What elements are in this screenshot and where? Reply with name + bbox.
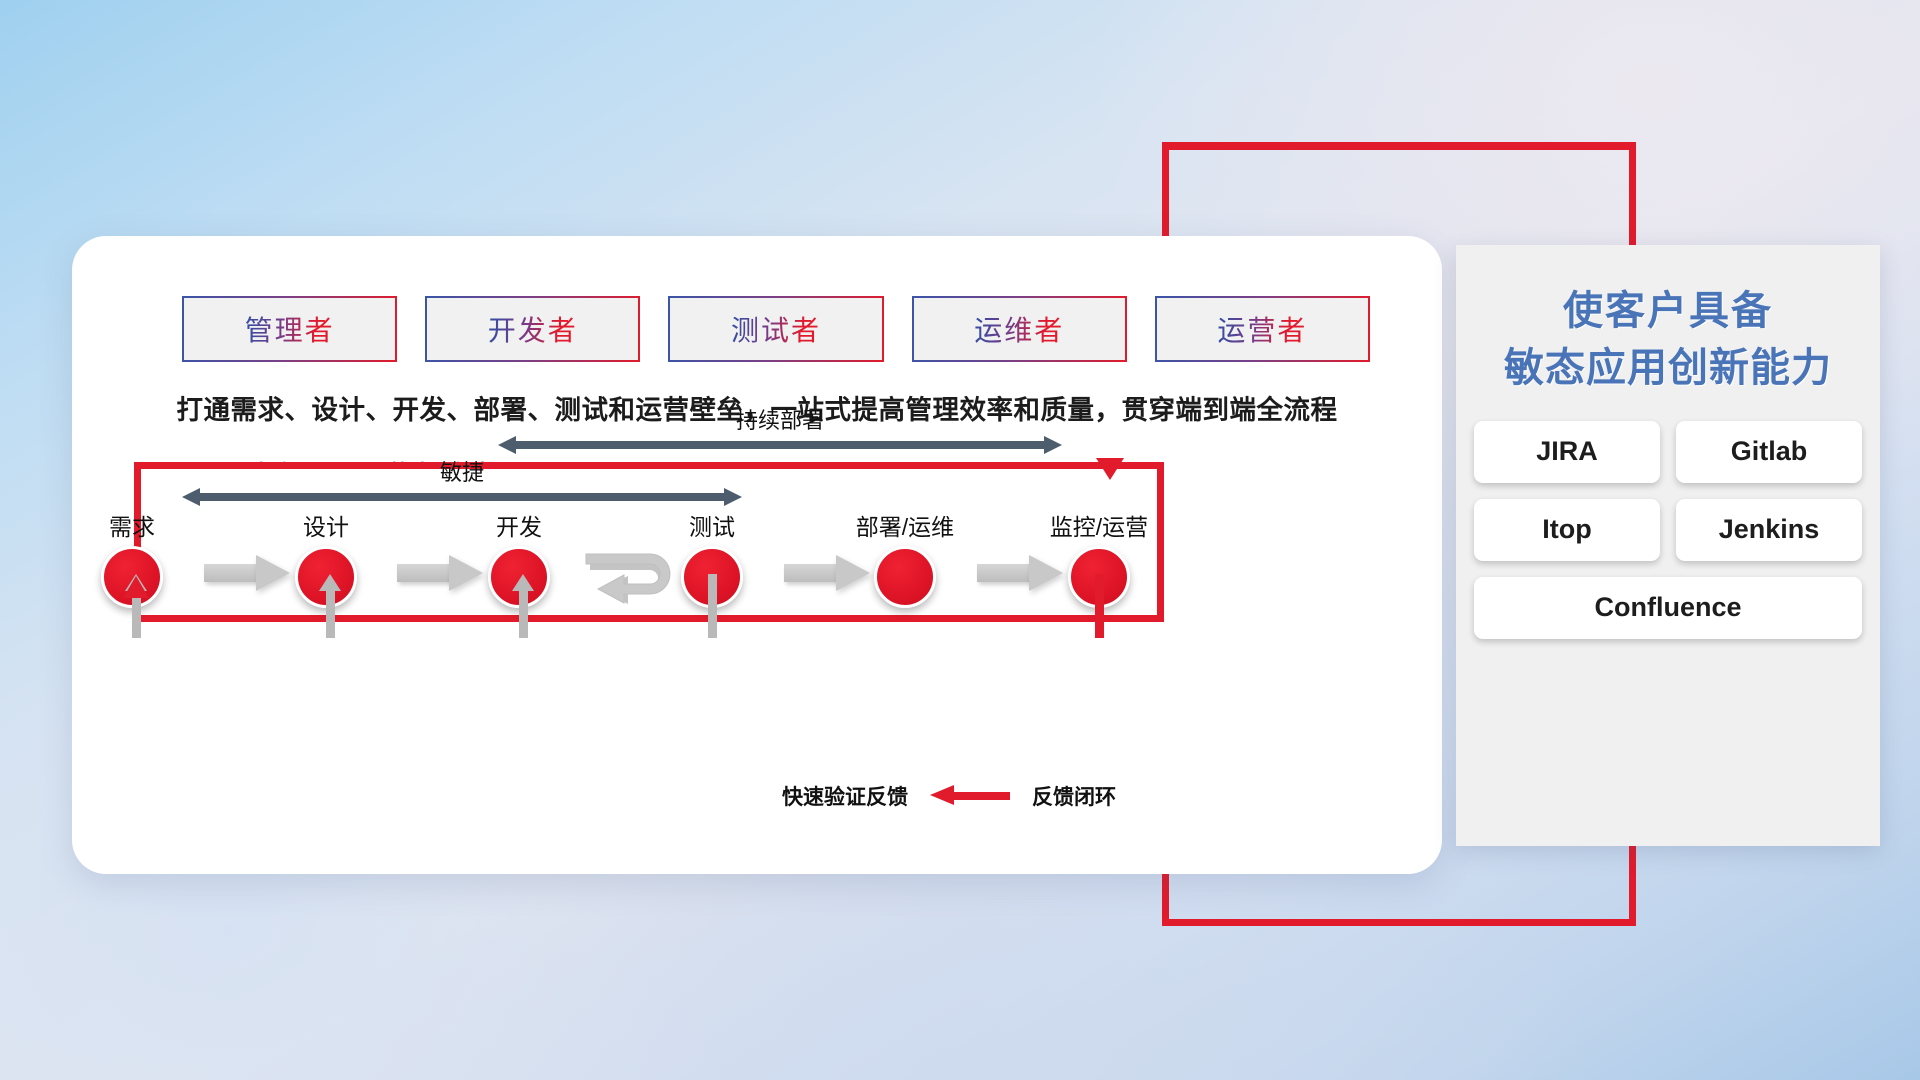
double-arrow-icon (182, 488, 742, 506)
pipeline-row: 需求 设计 开发 (72, 508, 1442, 628)
red-arrow-left-icon (930, 790, 1010, 802)
role-chip-label: 开发者 (488, 309, 578, 349)
main-content-card: 管理者 开发者 测试者 运维者 运营者 打通需求、设计、开发、部署、测试和运营壁… (72, 236, 1442, 874)
stage-label: 设计 (266, 508, 386, 542)
role-chip-row: 管理者 开发者 测试者 运维者 运营者 (182, 296, 1370, 362)
flow-arrow-icon (784, 556, 870, 590)
role-chip-label: 运维者 (974, 309, 1064, 349)
continuous-deploy-span: 持续部署 (498, 436, 1062, 454)
flow-arrow-icon (977, 556, 1063, 590)
tool-chip-grid: JIRA Gitlab Itop Jenkins Confluence (1474, 421, 1862, 639)
flow-arrow-icon (397, 556, 483, 590)
role-chip-tester[interactable]: 测试者 (668, 296, 883, 362)
value-proposition-title: 使客户具备 敏态应用创新能力 (1456, 283, 1880, 397)
loop-arrow-up-icon (123, 576, 149, 598)
tool-chip-confluence[interactable]: Confluence (1474, 577, 1862, 639)
value-proposition-line1: 使客户具备 (1456, 283, 1880, 340)
feedback-stem-monitoring (1095, 574, 1104, 638)
feedback-up-arrow-development (515, 574, 531, 638)
role-chip-ops[interactable]: 运维者 (912, 296, 1127, 362)
role-chip-operations[interactable]: 运营者 (1155, 296, 1370, 362)
feedback-up-arrow-design (322, 574, 338, 638)
feedback-legend: 快速验证反馈 反馈闭环 (782, 781, 1116, 811)
slide-canvas: 管理者 开发者 测试者 运维者 运营者 打通需求、设计、开发、部署、测试和运营壁… (0, 0, 1920, 1080)
value-proposition-panel: 使客户具备 敏态应用创新能力 JIRA Gitlab Itop Jenkins … (1456, 245, 1880, 846)
feedback-label-left: 快速验证反馈 (782, 781, 908, 811)
role-chip-developer[interactable]: 开发者 (425, 296, 640, 362)
feedback-label-right: 反馈闭环 (1032, 781, 1116, 811)
role-chip-label: 管理者 (245, 309, 335, 349)
stage-label: 测试 (652, 508, 772, 542)
role-chip-label: 运营者 (1217, 309, 1307, 349)
continuous-deploy-label: 持续部署 (498, 403, 1062, 435)
loop-arrow-down-icon (1096, 458, 1124, 480)
value-proposition-line2: 敏态应用创新能力 (1456, 340, 1880, 397)
feedback-stem-testing (708, 574, 717, 638)
tool-chip-gitlab[interactable]: Gitlab (1676, 421, 1862, 483)
stage-label: 需求 (72, 508, 192, 542)
flow-arrow-icon (204, 556, 290, 590)
role-chip-label: 测试者 (731, 309, 821, 349)
double-arrow-icon (498, 436, 1062, 454)
stage-label: 监控/运营 (1039, 508, 1159, 542)
stage-dot-icon (874, 546, 936, 608)
tool-chip-itop[interactable]: Itop (1474, 499, 1660, 561)
stage-label: 开发 (459, 508, 579, 542)
agile-label: 敏捷 (182, 455, 742, 487)
role-chip-manager[interactable]: 管理者 (182, 296, 397, 362)
tool-chip-jira[interactable]: JIRA (1474, 421, 1660, 483)
tool-chip-jenkins[interactable]: Jenkins (1676, 499, 1862, 561)
agile-span: 敏捷 (182, 488, 742, 506)
stage-label: 部署/运维 (845, 508, 965, 542)
